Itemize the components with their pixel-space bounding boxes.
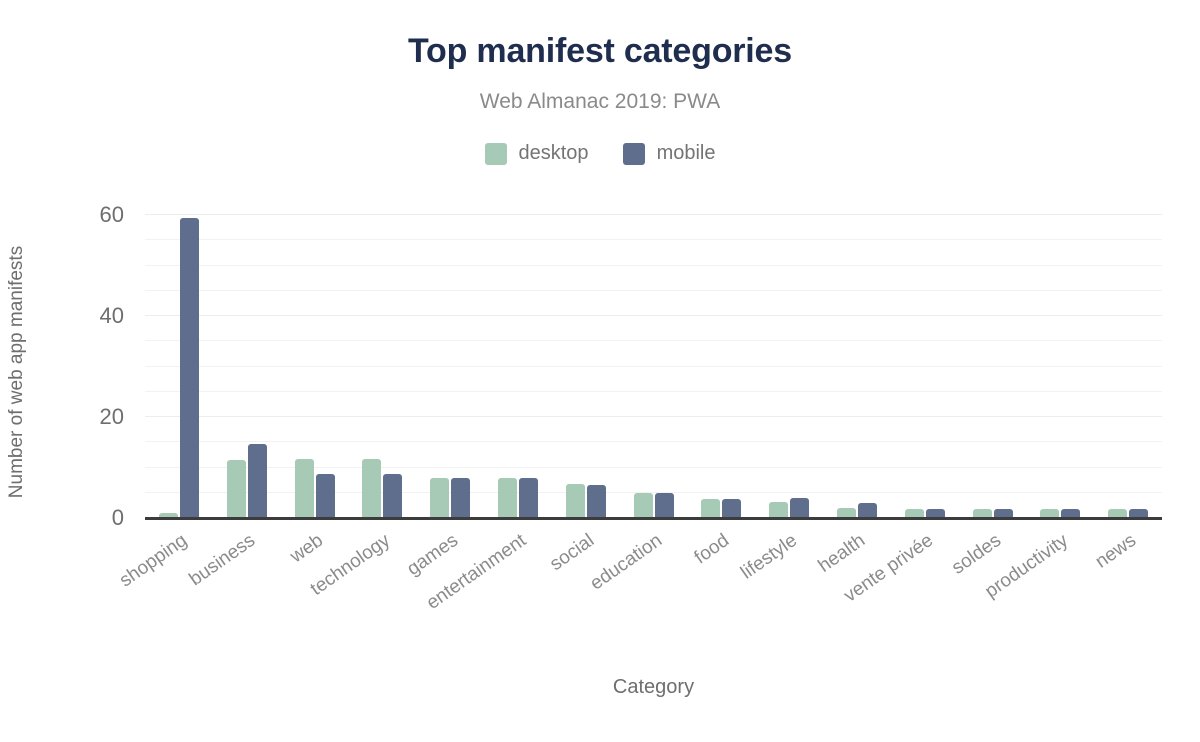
x-tick-label: web (183, 530, 327, 640)
x-tick-label: entertainment (387, 530, 531, 640)
x-tick-label: vente privée (794, 530, 938, 640)
x-tick-label: technology (251, 530, 395, 640)
bar-mobile[interactable] (519, 478, 538, 518)
bar-desktop[interactable] (769, 502, 788, 518)
x-tick-label: lifestyle (658, 530, 802, 640)
y-tick-label: 60 (100, 202, 124, 228)
legend-item-desktop[interactable]: desktop (485, 142, 589, 165)
chart-subtitle: Web Almanac 2019: PWA (0, 90, 1200, 114)
bar-mobile[interactable] (383, 474, 402, 518)
bar-mobile[interactable] (655, 493, 674, 518)
bar-mobile[interactable] (316, 474, 335, 518)
chart-container: Top manifest categories Web Almanac 2019… (0, 0, 1200, 742)
bar-mobile[interactable] (790, 498, 809, 518)
x-axis-line (145, 517, 1162, 520)
legend-item-mobile[interactable]: mobile (623, 142, 716, 165)
bar-group (1108, 205, 1148, 518)
bar-mobile[interactable] (858, 503, 877, 518)
x-tick-label: soldes (861, 530, 1005, 640)
bar-group (295, 205, 335, 518)
legend-swatch-mobile (623, 143, 645, 165)
x-tick-label: social (455, 530, 599, 640)
bar-desktop[interactable] (498, 478, 517, 518)
y-tick-label: 0 (112, 505, 124, 531)
bar-group (430, 205, 470, 518)
bar-group (905, 205, 945, 518)
bar-desktop[interactable] (634, 493, 653, 518)
bar-group (159, 205, 199, 518)
bar-desktop[interactable] (227, 460, 246, 518)
bar-group (566, 205, 606, 518)
chart-title: Top manifest categories (0, 32, 1200, 71)
x-tick-label: shopping (48, 530, 192, 640)
bar-group (1040, 205, 1080, 518)
bar-desktop[interactable] (295, 459, 314, 518)
bar-mobile[interactable] (248, 444, 267, 518)
bar-group (227, 205, 267, 518)
bar-mobile[interactable] (722, 499, 741, 518)
y-tick-label: 20 (100, 404, 124, 430)
x-tick-label: news (997, 530, 1141, 640)
bar-group (973, 205, 1013, 518)
x-tick-label: education (522, 530, 666, 640)
x-tick-label: business (116, 530, 260, 640)
legend-label-mobile: mobile (657, 142, 716, 165)
bar-group (362, 205, 402, 518)
y-axis-title: Number of web app manifests (6, 112, 28, 632)
bar-mobile[interactable] (587, 485, 606, 518)
bar-desktop[interactable] (701, 499, 720, 518)
bar-desktop[interactable] (362, 459, 381, 518)
bar-group (498, 205, 538, 518)
bar-group (634, 205, 674, 518)
x-tick-label: games (319, 530, 463, 640)
bar-group (769, 205, 809, 518)
x-tick-label: food (590, 530, 734, 640)
bar-group (701, 205, 741, 518)
bar-group (837, 205, 877, 518)
plot-area (145, 205, 1162, 518)
bar-mobile[interactable] (451, 478, 470, 518)
legend-swatch-desktop (485, 143, 507, 165)
bar-desktop[interactable] (566, 484, 585, 518)
x-tick-label: productivity (929, 530, 1073, 640)
x-axis-title: Category (145, 676, 1162, 699)
chart-legend: desktopmobile (0, 142, 1200, 165)
y-tick-label: 40 (100, 303, 124, 329)
legend-label-desktop: desktop (519, 142, 589, 165)
bar-desktop[interactable] (430, 478, 449, 518)
bar-mobile[interactable] (180, 218, 199, 518)
x-tick-label: health (726, 530, 870, 640)
